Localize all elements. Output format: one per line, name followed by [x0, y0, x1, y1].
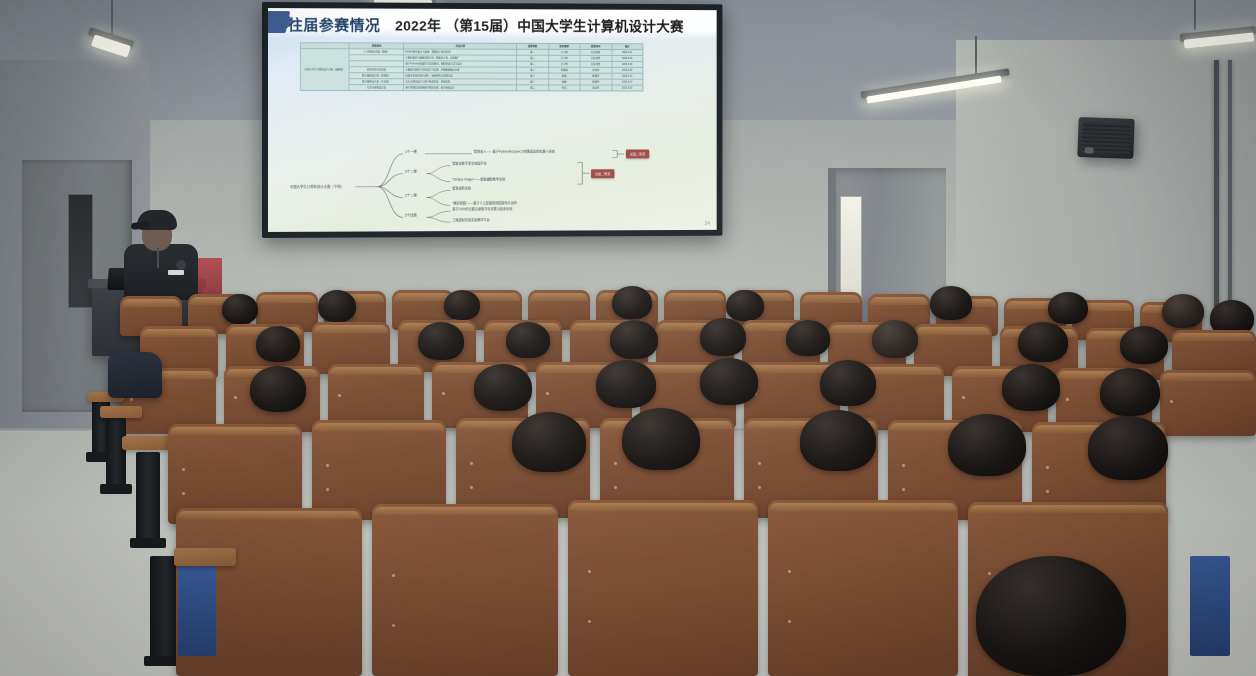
- tree-leaf: "Unique Image"——智能辅助教学系统: [452, 178, 505, 181]
- presenter-badge: [168, 270, 184, 275]
- presenter: [124, 204, 198, 296]
- slide-table-cell: 孙浩: [548, 85, 580, 91]
- slide-table-cell: 国二: [517, 85, 549, 91]
- auditorium-seat[interactable]: [1160, 370, 1256, 436]
- tree-root-label: 中国大学生计算机设计大赛（下同）: [290, 184, 344, 189]
- audience-member: [512, 412, 586, 472]
- audience-member: [1100, 368, 1160, 416]
- presentation-slide: 往届参赛情况 2022年 （第15届）中国大学生计算机设计大赛 参赛类别作品名称…: [268, 8, 717, 232]
- audience-member: [700, 358, 758, 405]
- audience-member: [1088, 416, 1168, 480]
- tree-branch-count-2: 2个二等: [405, 171, 417, 174]
- audience-member: [700, 318, 746, 356]
- audience-member: [948, 414, 1026, 476]
- tree-leaf: 智能化数字孪生校园平台: [452, 163, 486, 166]
- audience-member: [418, 322, 464, 360]
- auditorium-seat[interactable]: [372, 504, 558, 676]
- seat-armrest: [174, 548, 236, 566]
- audience-member: [612, 286, 652, 319]
- door-vision-panel: [840, 196, 862, 302]
- slide-results-table: 参赛类别作品名称获奖等级指导教师获奖时间备注中国大学生计算机设计大赛（国家级）人…: [300, 42, 643, 91]
- tree-leaf: "微影校园"——基于人工智能的校园宣传片创作: [452, 202, 517, 205]
- audience-member: [1002, 364, 1060, 411]
- screen-frame: 往届参赛情况 2022年 （第15届）中国大学生计算机设计大赛 参赛类别作品名称…: [262, 2, 722, 238]
- slide-table-cell: 信息可视化设计类: [349, 85, 404, 91]
- audience-member: [506, 322, 550, 358]
- seat-arm-side-panel: [178, 560, 216, 656]
- audience-member: [800, 410, 876, 471]
- tree-branch-count-3: 2个二等: [405, 195, 417, 198]
- audience-member: [474, 364, 532, 411]
- audience-member: [250, 366, 306, 412]
- slide-table-cell: 周涛等: [580, 85, 612, 91]
- tree-leaf: 三维虚拟仿真实验教学平台: [452, 219, 490, 222]
- tree-leaf: 智慧迎新系统: [452, 187, 471, 190]
- presenter-cap: [137, 210, 177, 230]
- award-badge-national: 全国二等奖: [626, 150, 649, 159]
- audience-member: [1120, 326, 1168, 364]
- pendant-light-fixture: [1180, 0, 1256, 60]
- tree-branch-count-1: 1个一等: [405, 151, 417, 154]
- audience-member: [1162, 294, 1204, 328]
- audience-member: [622, 408, 700, 470]
- slide-title-right: 2022年 （第15届）中国大学生计算机设计大赛: [395, 16, 684, 37]
- audience-member: [872, 320, 918, 358]
- seat-arm-side-panel: [1190, 556, 1230, 656]
- audience-member: [596, 360, 656, 408]
- slide-table-cell: 2022.9.20: [611, 85, 642, 91]
- bag: [108, 352, 162, 398]
- tree-connector-lines: [286, 147, 707, 225]
- audience-member: [930, 286, 972, 320]
- slide-page-number: 24: [705, 221, 710, 227]
- slide-table-row-header: 中国大学生计算机设计大赛（国家级）: [300, 49, 349, 91]
- tree-branch-count-4: 2个优秀: [405, 214, 417, 217]
- audience-member: [786, 320, 830, 356]
- audience-member-foreground: [976, 556, 1126, 676]
- seat-armrest: [100, 406, 142, 418]
- auditorium-seat[interactable]: [568, 500, 758, 676]
- audience-member: [444, 290, 480, 320]
- audience-member: [256, 326, 300, 362]
- door-vision-panel: [68, 194, 93, 308]
- lecture-hall-photo: 往届参赛情况 2022年 （第15届）中国大学生计算机设计大赛 参赛类别作品名称…: [0, 0, 1256, 676]
- slide-title-left: 往届参赛情况: [288, 14, 380, 35]
- presenter-sleeve-patch: [176, 260, 186, 270]
- tree-leaf: 智慧农人——基于Python与OpenCV的果园巡检机器人系统: [474, 151, 555, 154]
- slide-table-cell: 基于地理信息的数据可视化呈现、统计图表设计: [404, 85, 517, 91]
- pendant-light-fixture: [860, 36, 1020, 106]
- audience-member: [1018, 322, 1068, 362]
- audience-member: [1048, 292, 1088, 324]
- seat-pedestal: [106, 418, 126, 494]
- wall-speaker: [1077, 117, 1134, 159]
- slide-table-body: 参赛类别作品名称获奖等级指导教师获奖时间备注中国大学生计算机设计大赛（国家级）人…: [300, 43, 643, 91]
- audience-member: [318, 290, 356, 322]
- audience-member: [726, 290, 764, 321]
- podium-red-banner: [198, 258, 222, 294]
- audience-member: [820, 360, 876, 406]
- pendant-light-fixture: [84, 0, 138, 62]
- audience-member: [222, 294, 258, 324]
- presenter-jacket: [124, 244, 198, 300]
- audience-member: [610, 320, 658, 359]
- tree-leaf: 基于OCR的古籍文献数字化采集与检索系统: [452, 208, 512, 211]
- projection-screen: 往届参赛情况 2022年 （第15届）中国大学生计算机设计大赛 参赛类别作品名称…: [262, 2, 722, 238]
- seat-pedestal: [136, 452, 160, 548]
- seat-armrest: [122, 436, 172, 450]
- auditorium-seat[interactable]: [768, 500, 958, 676]
- award-badge-provincial: 省级二等奖: [591, 169, 614, 178]
- slide-tree-diagram: 中国大学生计算机设计大赛（下同） 1个一等 2个二等 2个二等 2个优秀 智慧农…: [286, 147, 707, 225]
- presenter-jacket-zip: [157, 248, 159, 268]
- slide-table-row: 信息可视化设计类基于地理信息的数据可视化呈现、统计图表设计国二孙浩周涛等2022…: [300, 85, 643, 91]
